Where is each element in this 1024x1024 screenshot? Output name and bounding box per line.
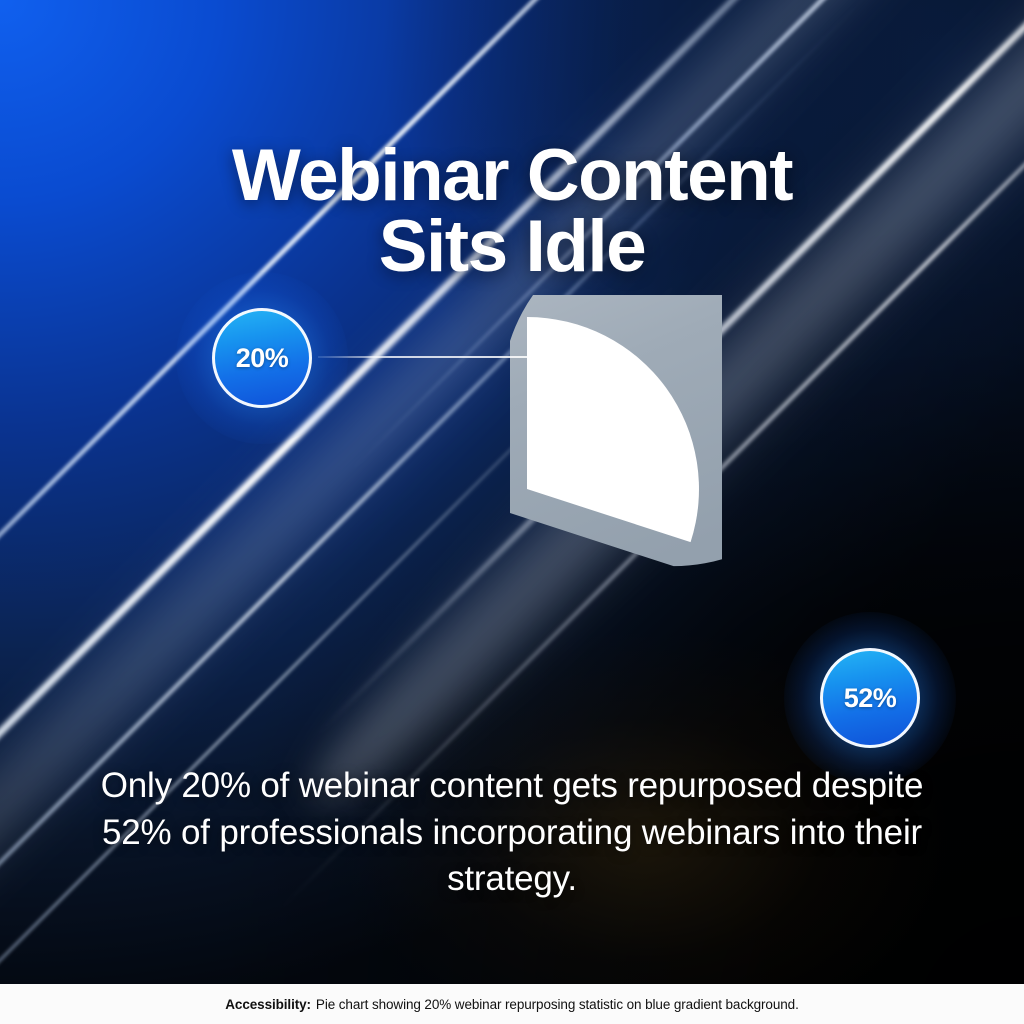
body-paragraph: Only 20% of webinar content gets repurpo… [96, 763, 928, 903]
infographic-canvas: Webinar Content Sits Idle 20% 52% Only 2… [0, 0, 1024, 1024]
accessibility-description: Pie chart showing 20% webinar repurposin… [316, 997, 799, 1012]
badge-52-percent[interactable]: 52% [820, 648, 920, 748]
page-title: Webinar Content Sits Idle [0, 141, 1024, 283]
accessibility-footer: Accessibility: Pie chart showing 20% web… [0, 984, 1024, 1024]
accessibility-label: Accessibility: [225, 997, 311, 1012]
title-line-1: Webinar Content [232, 135, 792, 216]
title-line-2: Sits Idle [60, 212, 964, 283]
leader-line [318, 356, 528, 358]
badge-20-percent[interactable]: 20% [212, 308, 312, 408]
